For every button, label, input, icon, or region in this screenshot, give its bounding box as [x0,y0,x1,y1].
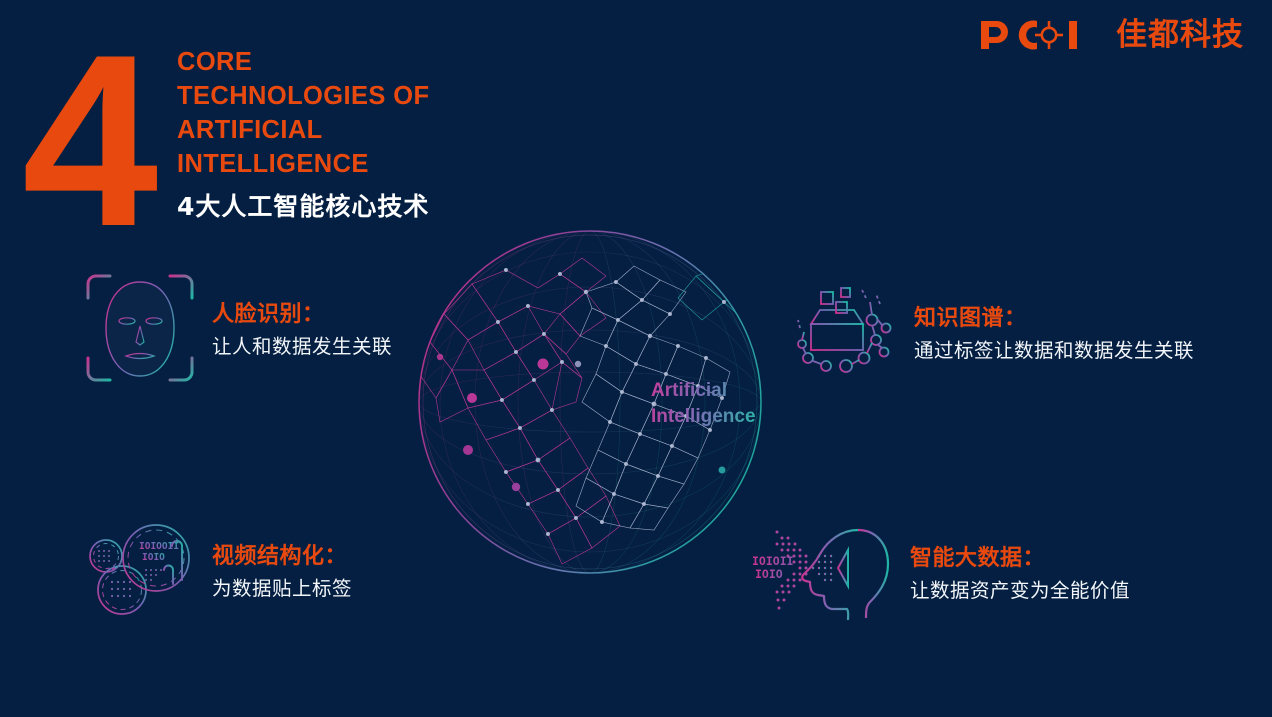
feature-title-video: 视频结构化： [212,544,347,569]
title-english-line-4: INTELLIGENCE [177,148,517,182]
video-structuring-icon: IOIOOII IOIO [84,518,196,627]
globe-label-line-1: Artificial [651,378,756,404]
feature-title-bigdata: 智能大数据： [910,546,1045,571]
title-chinese: 4大人工智能核心技术 [177,187,517,223]
svg-text:IOIO: IOIO [142,552,165,563]
slide-root: 佳都科技 4 CORE TECHNOLOGIES OF ARTIFICIAL I… [0,0,1272,717]
title-english-line-2: TECHNOLOGIES OF [177,80,517,114]
knowledge-graph-icon [796,282,896,387]
feature-smart-bigdata[interactable]: IOIOII IOIO 智能大数据： 让数据资产变为全能价值 [752,520,1130,629]
title-english-line-1: CORE [177,46,517,80]
big-number-four: 4 [22,18,152,263]
svg-text:IOIOII: IOIOII [752,554,794,568]
globe-label-line-2: Intelligence [651,404,756,430]
feature-knowledge-graph[interactable]: 知识图谱： 通过标签让数据和数据发生关联 [796,282,1194,387]
svg-text:IOIO: IOIO [755,567,783,581]
feature-desc-video: 为数据贴上标签 [212,576,352,602]
feature-title-knowledge: 知识图谱： [914,306,1027,331]
feature-text-bigdata: 智能大数据： 让数据资产变为全能价值 [910,545,1130,604]
feature-desc-bigdata: 让数据资产变为全能价值 [910,578,1130,604]
feature-text-video: 视频结构化： 为数据贴上标签 [212,543,352,602]
brand-logo: 佳都科技 [979,18,1244,52]
title-english-line-3: ARTIFICIAL [177,114,517,148]
title-block: 4 CORE TECHNOLOGIES OF ARTIFICIAL INTELL… [0,0,520,230]
globe-center-label: Artificial Intelligence [651,378,756,430]
feature-video-structuring[interactable]: IOIOOII IOIO [84,518,352,627]
feature-desc-face: 让人和数据发生关联 [212,334,392,360]
feature-text-knowledge: 知识图谱： 通过标签让数据和数据发生关联 [914,305,1194,364]
feature-desc-knowledge: 通过标签让数据和数据发生关联 [914,338,1194,364]
feature-title-face: 人脸识别： [212,302,325,327]
face-recognition-icon [84,272,196,389]
feature-text-face: 人脸识别： 让人和数据发生关联 [212,301,392,360]
smart-bigdata-icon: IOIOII IOIO [752,520,892,629]
feature-face-recognition[interactable]: 人脸识别： 让人和数据发生关联 [84,272,392,389]
pci-logo-icon [979,18,1107,52]
brand-name-cn: 佳都科技 [1116,20,1244,51]
title-text-group: CORE TECHNOLOGIES OF ARTIFICIAL INTELLIG… [177,46,517,223]
